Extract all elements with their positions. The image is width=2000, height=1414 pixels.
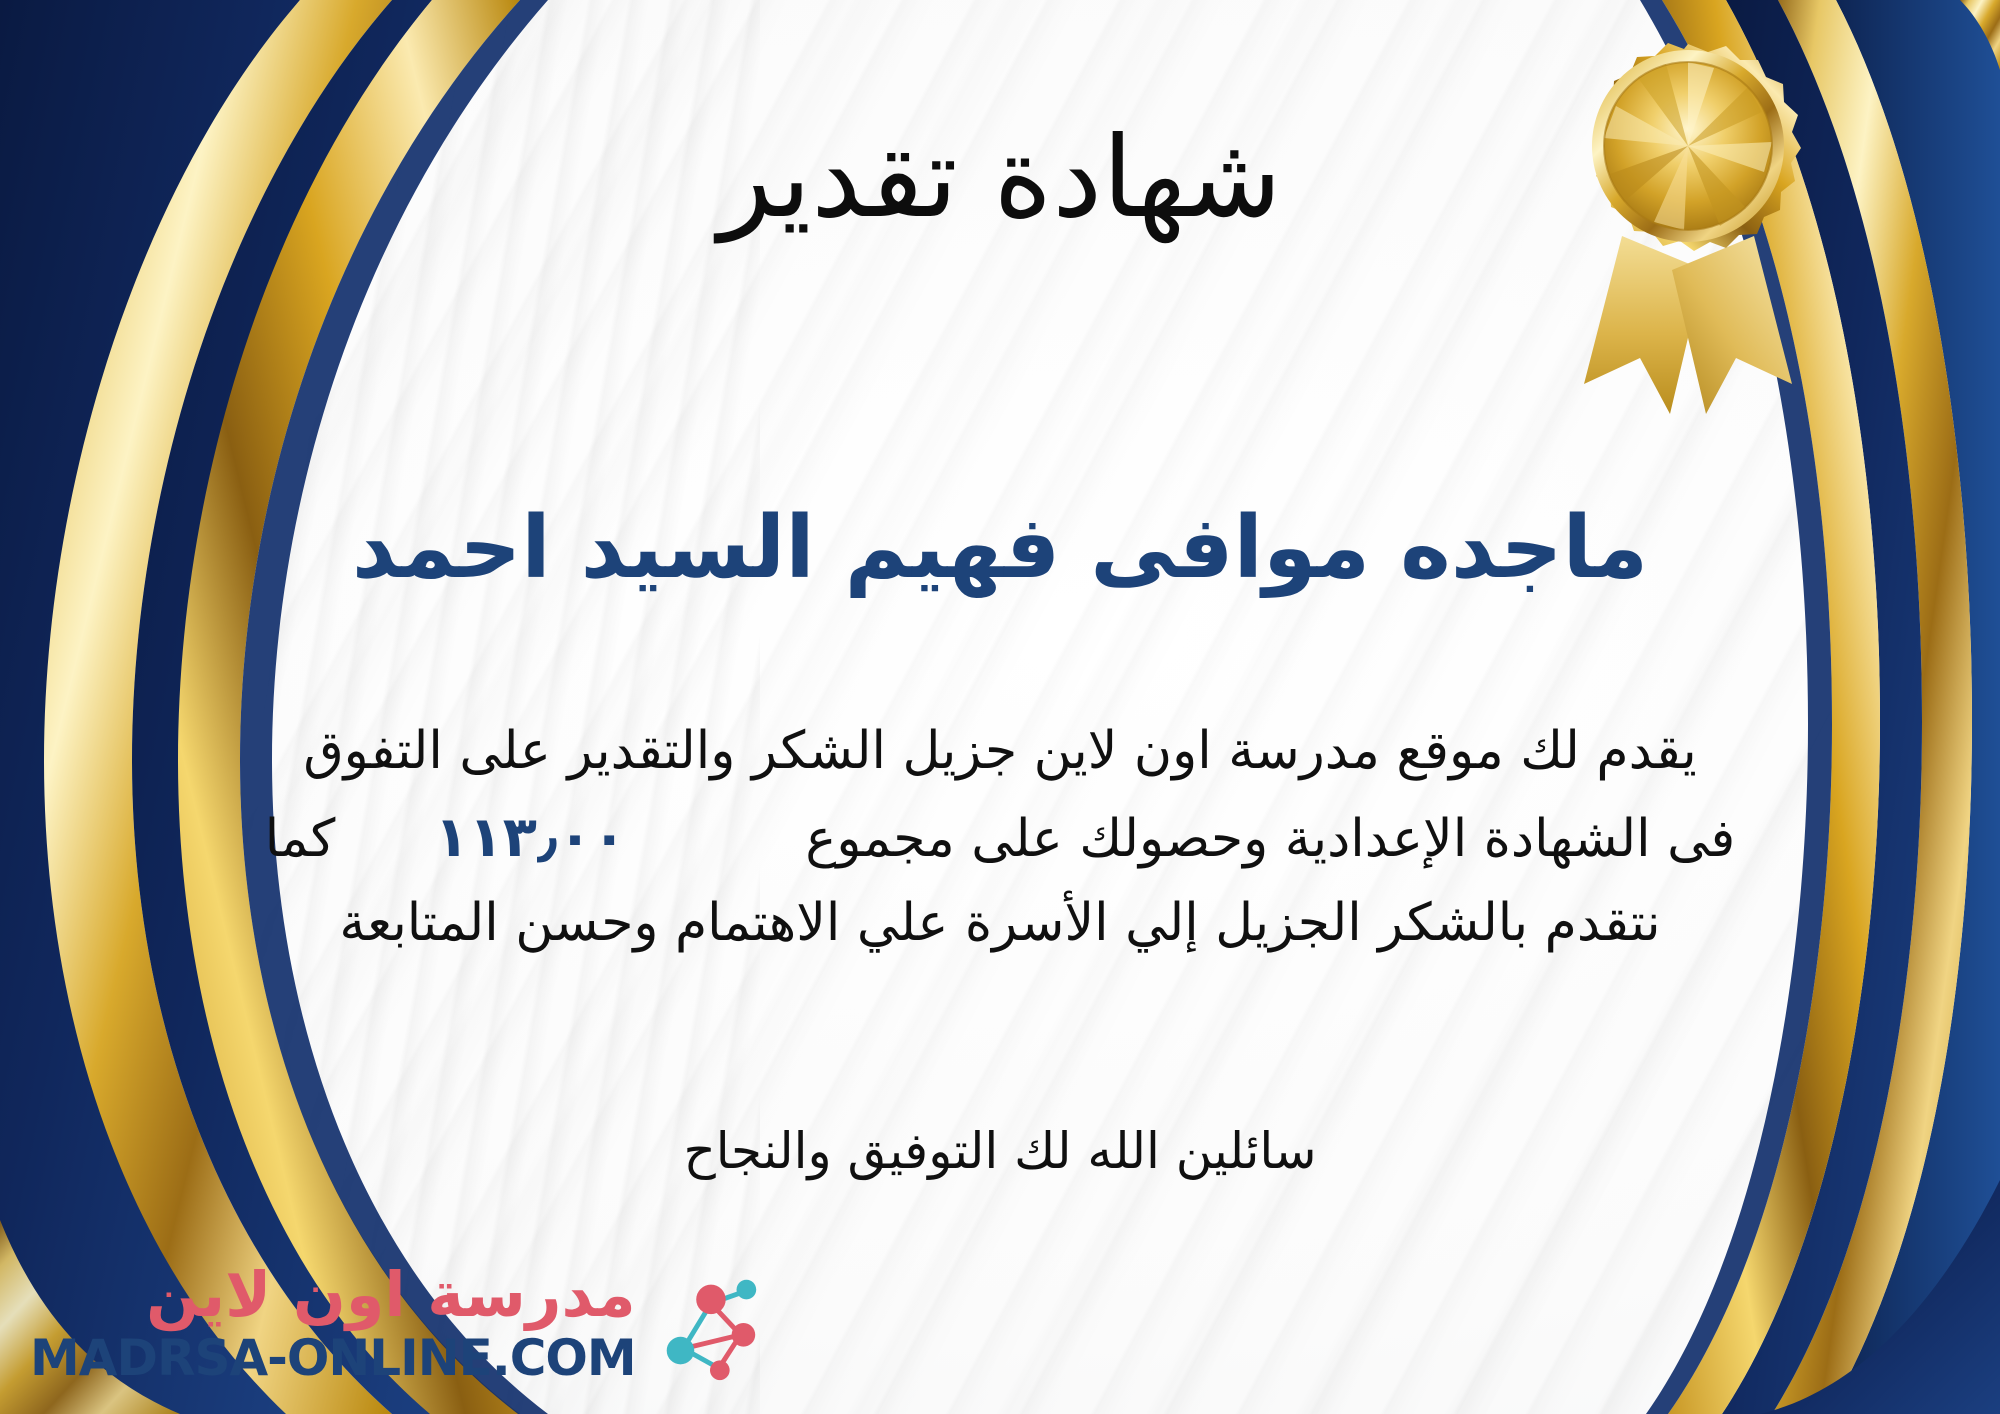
network-nodes-icon [650, 1266, 768, 1384]
site-logo[interactable]: مدرسة اون لاين MADRSA-ONLINE.COM [30, 1264, 768, 1386]
page-title: شهادة تقدير [0, 118, 2000, 239]
closing-text: سائلين الله لك التوفيق والنجاح [0, 1122, 2000, 1180]
student-name: ماجده موافى فهيم السيد احمد [0, 500, 2000, 596]
logo-brand-url: MADRSA-ONLINE.COM [30, 1330, 636, 1386]
body-line-2-right: فى الشهادة الإعدادية وحصولك على مجموع [805, 809, 1735, 869]
logo-brand-arabic: مدرسة اون لاين [146, 1264, 636, 1326]
body-line-2-left: كما [265, 809, 336, 869]
body-text: يقدم لك موقع مدرسة اون لاين جزيل الشكر و… [70, 712, 1930, 963]
grade-value: ١١٣٫٠٠ [408, 795, 652, 880]
certificate-page: شهادة تقدير ماجده موافى فهيم السيد احمد … [0, 0, 2000, 1414]
body-line-1: يقدم لك موقع مدرسة اون لاين جزيل الشكر و… [70, 712, 1930, 791]
logo-text-block: مدرسة اون لاين MADRSA-ONLINE.COM [30, 1264, 636, 1386]
body-line-2: فى الشهادة الإعدادية وحصولك على مجموع ١١… [70, 795, 1930, 880]
body-line-3: نتقدم بالشكر الجزيل إلي الأسرة علي الاهت… [70, 884, 1930, 963]
